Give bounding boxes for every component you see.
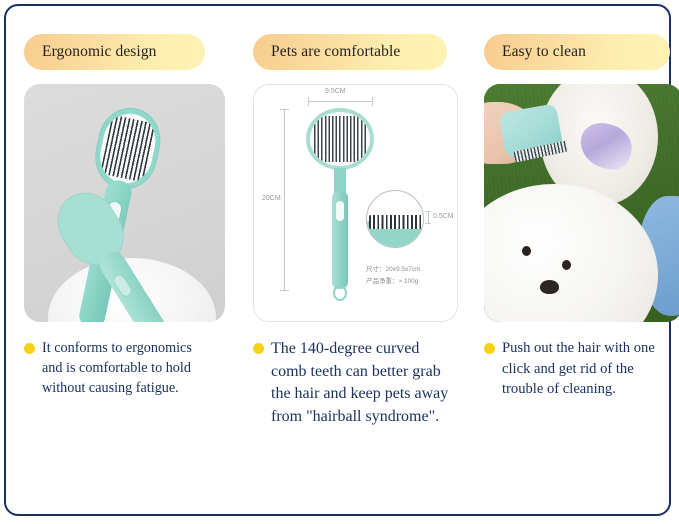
bullet-easy-to-clean: Push out the hair with one click and get… [484, 338, 679, 400]
bullet-pets-are-comfortable: The 140-degree curved comb teeth can bet… [253, 338, 458, 429]
brush-teeth [100, 115, 156, 183]
height-dim-tick-top [280, 109, 289, 110]
height-dimension-label: 20CM [262, 195, 281, 202]
bullet-ergonomic-design: It conforms to ergonomics and is comfort… [24, 338, 225, 398]
diagram-hanging-loop [333, 285, 347, 301]
height-dim-tick-bottom [280, 290, 289, 291]
infographic-frame: Ergonomic design [4, 4, 671, 516]
height-dim-line [284, 109, 285, 291]
tooth-dim-tick-bottom [425, 223, 431, 224]
feature-columns: Ergonomic design [6, 6, 669, 514]
header-label: Easy to clean [502, 43, 586, 61]
diagram-brush-pad [310, 112, 370, 166]
bullet-text: Push out the hair with one click and get… [502, 338, 672, 400]
diagram-release-button [336, 201, 344, 221]
header-label: Pets are comfortable [271, 43, 400, 61]
brush-pad [95, 109, 160, 188]
feature-column-pets-are-comfortable: Pets are comfortable 9.5CM 20CM [239, 6, 472, 514]
product-photo-two-brushes [24, 84, 225, 322]
diagram-brush-teeth [314, 116, 366, 162]
width-dimension-label: 9.5CM [325, 88, 346, 95]
spec-weight-text: 产品净重：≈ 100g [366, 275, 418, 285]
bullet-text: The 140-degree curved comb teeth can bet… [271, 338, 451, 429]
diagram-brush-head [306, 108, 374, 170]
spec-size-text: 尺寸：20x9.5x7cm [366, 263, 421, 273]
tooth-dimension-label: 0.5CM [433, 213, 454, 220]
tooth-detail-magnifier [366, 190, 424, 248]
header-pill-pets-are-comfortable: Pets are comfortable [253, 34, 447, 70]
dimension-diagram: 9.5CM 20CM [253, 84, 458, 322]
bullet-dot-icon [24, 343, 35, 354]
header-pill-ergonomic-design: Ergonomic design [24, 34, 205, 70]
diagram-canvas: 9.5CM 20CM [254, 85, 457, 321]
header-label: Ergonomic design [42, 43, 157, 61]
feature-column-easy-to-clean: Easy to clean Push out the hair with one… [472, 6, 679, 514]
bullet-text: It conforms to ergonomics and is comfort… [42, 338, 210, 398]
detail-curved-teeth [369, 215, 423, 229]
feature-column-ergonomic-design: Ergonomic design [6, 6, 239, 514]
bullet-dot-icon [253, 343, 264, 354]
bullet-dot-icon [484, 343, 495, 354]
brush-head [89, 102, 167, 195]
width-dim-tick-left [308, 97, 309, 106]
dog-nose [540, 280, 559, 294]
width-dim-line [308, 101, 372, 102]
header-pill-easy-to-clean: Easy to clean [484, 34, 670, 70]
dog-eye-left [522, 246, 531, 256]
dog-eye-right [562, 260, 571, 270]
tooth-dim-line [428, 211, 429, 223]
dog-grooming-photo [484, 84, 679, 322]
width-dim-tick-right [372, 97, 373, 106]
